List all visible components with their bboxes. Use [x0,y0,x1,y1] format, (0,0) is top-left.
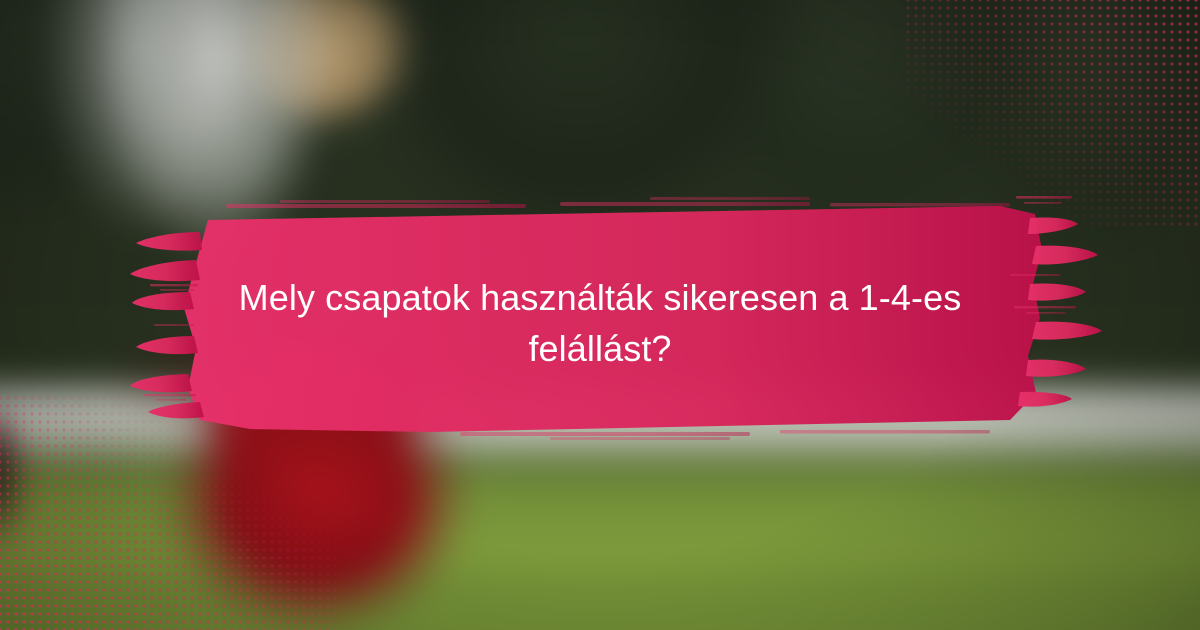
page-title: Mely csapatok használták sikeresen a 1-4… [190,272,1010,374]
share-card-canvas: Mely csapatok használták sikeresen a 1-4… [0,0,1200,630]
brush-dry-streaks-bottom [460,430,990,440]
brush-dry-streaks-top [226,197,1010,208]
